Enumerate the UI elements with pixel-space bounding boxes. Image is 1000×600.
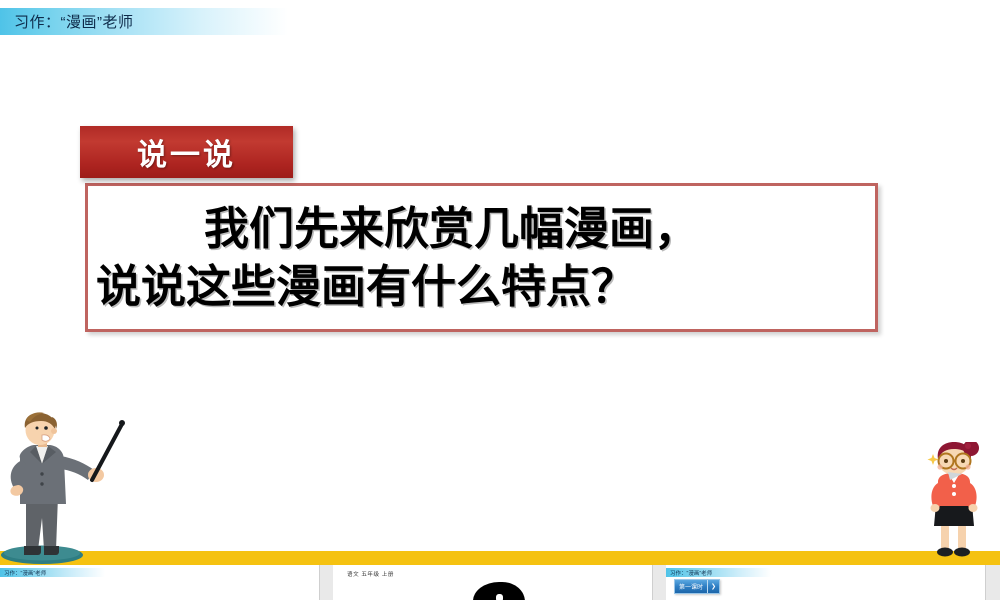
thumbnail-3-header-text: 习作：“漫画”老师	[666, 568, 712, 576]
thumbnail-3-lesson-button-label: 第一课时	[675, 580, 707, 593]
cartoon-teacher-illustration	[0, 412, 130, 564]
cartoon-girl-illustration	[918, 442, 990, 559]
section-tab-label: 说一说	[137, 130, 236, 174]
floor-band	[0, 551, 1000, 565]
presentation-slide: 习作：“漫画”老师 说一说 我们先来欣赏几幅漫画， 说说这些漫画有什么特点？	[0, 0, 1000, 565]
question-text-container: 我们先来欣赏几幅漫画， 说说这些漫画有什么特点？	[88, 186, 875, 329]
thumbnail-slide-1[interactable]: 习作：“漫画”老师	[0, 565, 320, 600]
slide-header-title: 习作：“漫画”老师	[0, 11, 134, 32]
thumbnail-1-header-text: 习作：“漫画”老师	[0, 568, 46, 576]
thumbnail-gap-1	[320, 565, 333, 600]
question-line-2: 说说这些漫画有什么特点？	[96, 258, 871, 316]
thumbnail-2-silhouette-notch	[496, 594, 503, 600]
teacher-svg	[0, 412, 130, 564]
slide-viewer: 习作：“漫画”老师 说一说 我们先来欣赏几幅漫画， 说说这些漫画有什么特点？	[0, 0, 1000, 600]
thumbnail-3-header: 习作：“漫画”老师	[666, 568, 771, 577]
question-line-1: 我们先来欣赏几幅漫画，	[96, 200, 871, 258]
thumbnail-3-lesson-button[interactable]: 第一课时 ❯	[674, 579, 720, 594]
slide-header-bar: 习作：“漫画”老师	[0, 8, 288, 35]
question-box: 我们先来欣赏几幅漫画， 说说这些漫画有什么特点？	[85, 183, 878, 332]
girl-svg	[918, 442, 990, 559]
chevron-right-icon: ❯	[707, 580, 719, 593]
thumbnail-gap-2	[653, 565, 666, 600]
thumbnail-1-header: 习作：“漫画”老师	[0, 568, 105, 577]
thumbnail-slide-3[interactable]: 习作：“漫画”老师 第一课时 ❯	[666, 565, 986, 600]
thumbnail-2-subject-text: 语文 五年级 上册	[347, 570, 394, 578]
section-tab-say-it: 说一说	[80, 126, 293, 178]
thumbnail-strip: 习作：“漫画”老师 语文 五年级 上册 习作：“漫画”老师 第一课时 ❯	[0, 565, 1000, 600]
thumbnail-slide-2[interactable]: 语文 五年级 上册	[333, 565, 653, 600]
